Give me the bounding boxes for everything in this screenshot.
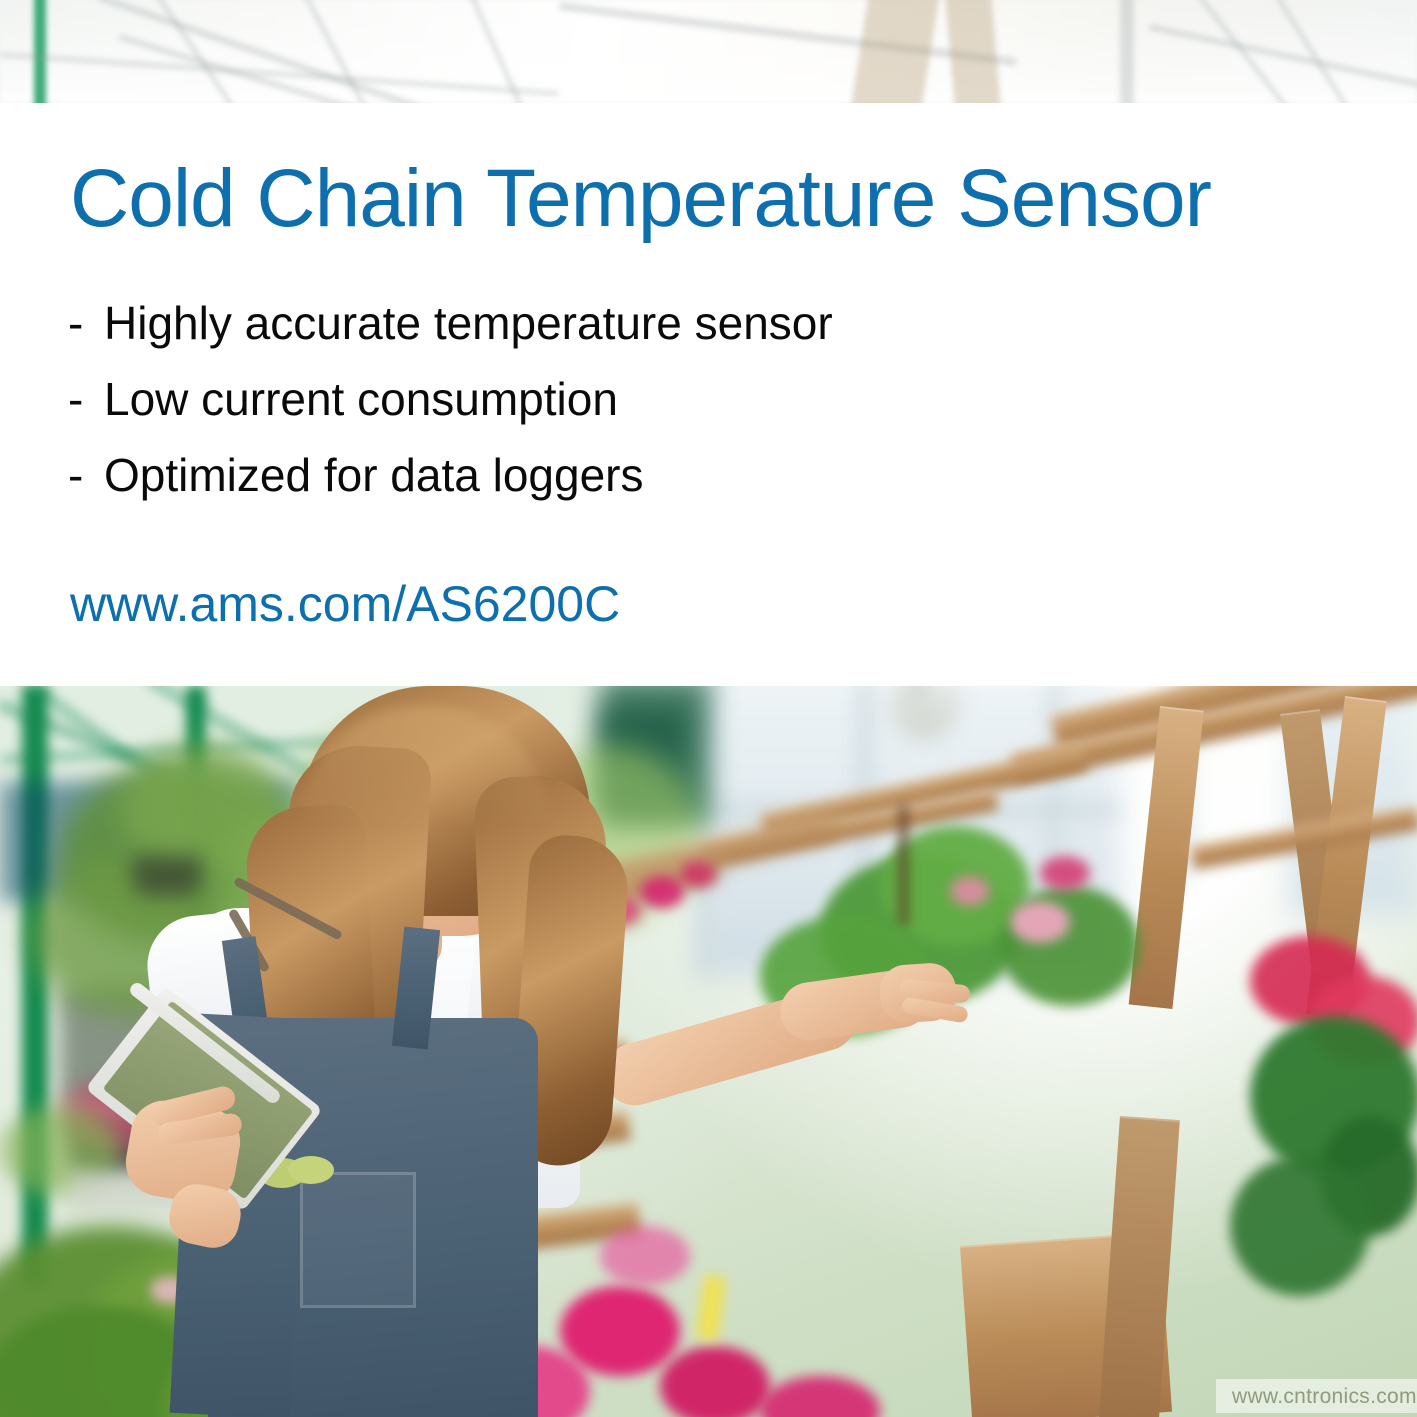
shelf-plant bbox=[1000, 886, 1140, 1006]
pink-flower bbox=[1010, 901, 1070, 943]
pink-flower-cluster bbox=[660, 1346, 770, 1417]
page-title: Cold Chain Temperature Sensor bbox=[70, 158, 1211, 240]
pink-flower bbox=[640, 876, 684, 908]
support-pole bbox=[22, 686, 48, 1286]
advertisement-page: Cold Chain Temperature Sensor -Highly ac… bbox=[0, 0, 1417, 1417]
ceiling-green-post bbox=[34, 0, 46, 103]
pink-flower bbox=[950, 876, 990, 906]
pink-flower-cluster bbox=[600, 1226, 690, 1286]
feature-list: -Highly accurate temperature sensor -Low… bbox=[68, 300, 1068, 528]
watermark: www.cntronics.com bbox=[1232, 1385, 1417, 1409]
ceiling-post bbox=[1120, 0, 1134, 103]
plant-stem bbox=[900, 806, 907, 926]
list-item: -Highly accurate temperature sensor bbox=[68, 300, 1068, 346]
pink-flower bbox=[680, 861, 716, 887]
greenhouse-ceiling-strip bbox=[0, 0, 1417, 103]
ceiling-sky bbox=[0, 0, 1417, 103]
apron-pocket bbox=[300, 1172, 416, 1308]
greenhouse-florist-photo bbox=[0, 686, 1417, 1417]
bullet-marker: - bbox=[68, 376, 104, 422]
bullet-text: Highly accurate temperature sensor bbox=[104, 297, 833, 349]
bullet-marker: - bbox=[68, 300, 104, 346]
product-url-link[interactable]: www.ams.com/AS6200C bbox=[70, 575, 620, 633]
foliage bbox=[1230, 1156, 1370, 1296]
list-item: -Low current consumption bbox=[68, 376, 1068, 422]
glove bbox=[288, 1156, 334, 1184]
lamp-stem bbox=[912, 686, 922, 696]
pink-flower-cluster bbox=[560, 1286, 680, 1376]
hanging-pot bbox=[132, 856, 202, 896]
ceiling-blur-layer bbox=[0, 0, 1417, 103]
list-item: -Optimized for data loggers bbox=[68, 452, 1068, 498]
bullet-text: Low current consumption bbox=[104, 373, 618, 425]
bullet-marker: - bbox=[68, 452, 104, 498]
bullet-text: Optimized for data loggers bbox=[104, 449, 644, 501]
pink-flower bbox=[1040, 856, 1090, 890]
